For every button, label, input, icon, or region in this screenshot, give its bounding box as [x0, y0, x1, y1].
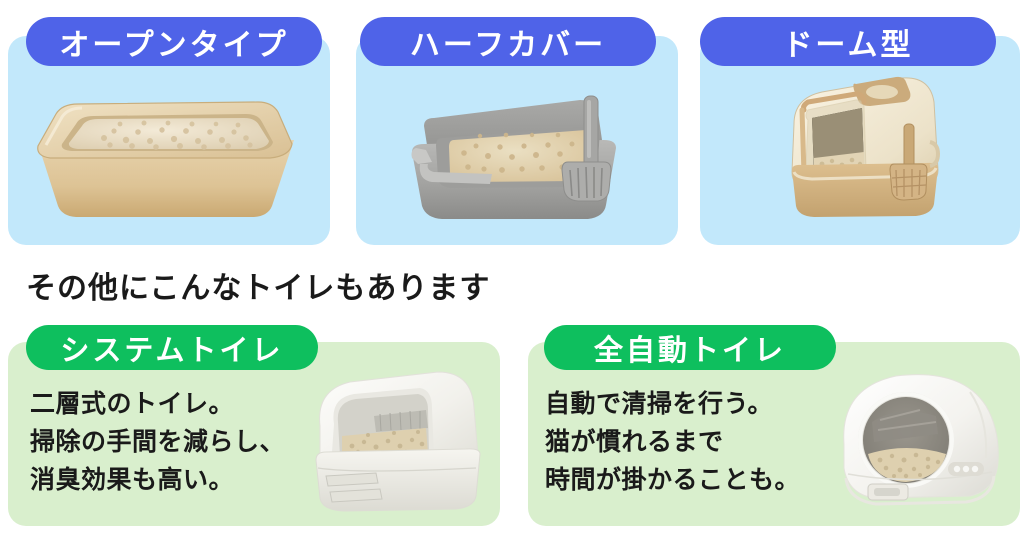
description-line: 猫が慣れるまで: [545, 423, 800, 461]
badge-open-type: オープンタイプ: [26, 17, 322, 66]
badge-open-type-label: オープンタイプ: [59, 20, 288, 64]
card-dome-type: dome-litter-box: [700, 36, 1020, 245]
infographic-root: open-tray-litter-box: [0, 0, 1024, 538]
description-line: 自動で清掃を行う。: [545, 385, 800, 423]
card-automatic-toilet-product-name: automatic-litter-box: [528, 342, 529, 343]
description-line: 消臭効果も高い。: [30, 461, 285, 499]
badge-system-toilet-label: システムトイレ: [60, 327, 283, 369]
badge-automatic-toilet-label: 全自動トイレ: [594, 327, 786, 369]
description-line: 掃除の手間を減らし、: [30, 423, 285, 461]
badge-system-toilet: システムトイレ: [26, 325, 318, 370]
dome-litter-box-illustration: [752, 66, 972, 226]
automatic-litter-box-illustration: [820, 362, 1020, 518]
system-litter-box-illustration: [298, 364, 498, 516]
card-automatic-toilet-description: 自動で清掃を行う。 猫が慣れるまで 時間が掛かることも。: [545, 385, 800, 499]
description-line: 時間が掛かることも。: [545, 461, 800, 499]
section-heading: その他にこんなトイレもあります: [26, 263, 490, 307]
badge-half-cover: ハーフカバー: [360, 17, 656, 66]
badge-dome-type-label: ドーム型: [782, 20, 913, 64]
badge-automatic-toilet: 全自動トイレ: [544, 325, 836, 370]
card-open-type: open-tray-litter-box: [8, 36, 330, 245]
card-system-toilet-product-name: system-litter-box: [8, 342, 9, 343]
badge-half-cover-label: ハーフカバー: [410, 20, 606, 64]
card-system-toilet-description: 二層式のトイレ。 掃除の手間を減らし、 消臭効果も高い。: [30, 385, 285, 499]
half-cover-litter-box-illustration: [372, 78, 662, 228]
open-tray-litter-box-illustration: [22, 88, 312, 223]
description-line: 二層式のトイレ。: [30, 385, 285, 423]
card-half-cover: half-cover-litter-box: [356, 36, 678, 245]
badge-dome-type: ドーム型: [700, 17, 996, 66]
card-open-type-product-name: open-tray-litter-box: [8, 36, 9, 37]
card-half-cover-product-name: half-cover-litter-box: [356, 36, 357, 37]
